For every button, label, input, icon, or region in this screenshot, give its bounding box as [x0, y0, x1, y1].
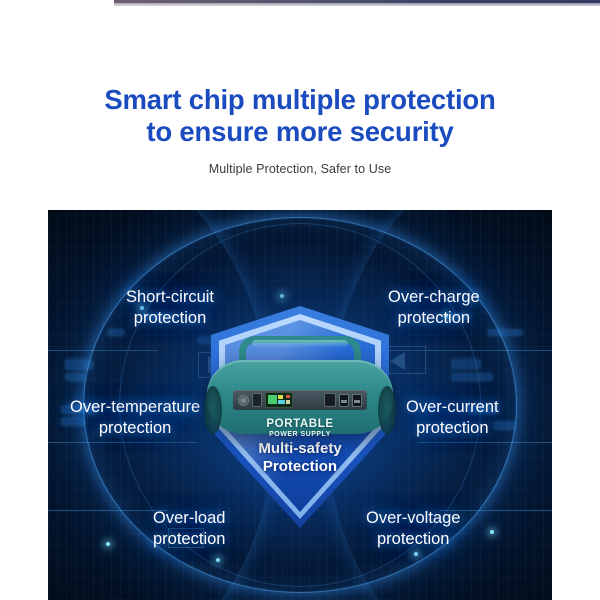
page-title-line-2: to ensure more security — [0, 116, 600, 148]
brand-line-1: PORTABLE — [207, 418, 393, 430]
ac-outlet-port-icon — [252, 393, 262, 407]
lcd-segment — [278, 395, 283, 399]
power-button-icon — [238, 395, 249, 406]
label-line-1: Over-temperature — [70, 397, 200, 418]
label-line-2: protection — [366, 529, 460, 550]
previous-banner-sliver — [0, 0, 600, 6]
product-image-portable-power-supply: PORTABLE POWER SUPPLY — [207, 338, 393, 434]
product-brand-text: PORTABLE POWER SUPPLY — [207, 418, 393, 438]
label-short-circuit: Short-circuit protection — [126, 287, 214, 329]
label-line-2: protection — [406, 418, 499, 439]
label-line-1: Over-current — [406, 397, 499, 418]
label-line-2: protection — [70, 418, 200, 439]
lcd-segment — [286, 395, 290, 398]
label-over-charge: Over-charge protection — [388, 287, 480, 329]
usb-port-icon — [352, 394, 362, 407]
shield-caption-line-2: Protection — [211, 458, 389, 476]
shield-caption: Multi-safety Protection — [211, 440, 389, 476]
product-feature-page: Smart chip multiple protection to ensure… — [0, 0, 600, 600]
lcd-segment — [278, 400, 285, 404]
sliver-fade — [0, 3, 600, 8]
shield-caption-line-1: Multi-safety — [211, 440, 389, 458]
label-line-2: protection — [126, 308, 214, 329]
label-over-current: Over-current protection — [406, 397, 499, 439]
page-title-line-1: Smart chip multiple protection — [104, 84, 495, 115]
label-line-1: Over-charge — [388, 287, 480, 308]
page-title: Smart chip multiple protection to ensure… — [0, 84, 600, 148]
brand-line-2: POWER SUPPLY — [207, 431, 393, 438]
label-line-2: protection — [388, 308, 480, 329]
lcd-display-icon — [265, 392, 293, 408]
hero-image-panel: Short-circuit protection Over-charge pro… — [48, 210, 552, 600]
lcd-segment — [286, 400, 290, 404]
page-subtitle: Multiple Protection, Safer to Use — [0, 162, 600, 176]
product-control-panel — [233, 390, 367, 410]
label-line-1: Short-circuit — [126, 287, 214, 308]
lcd-segment — [268, 395, 277, 404]
dc-output-port-icon — [324, 393, 336, 407]
product-body: PORTABLE POWER SUPPLY — [207, 360, 393, 434]
heading-block: Smart chip multiple protection to ensure… — [0, 84, 600, 176]
label-over-temperature: Over-temperature protection — [70, 397, 200, 439]
product-handle-highlight — [252, 340, 348, 348]
label-line-2: protection — [153, 529, 225, 550]
usb-port-icon — [339, 394, 349, 407]
